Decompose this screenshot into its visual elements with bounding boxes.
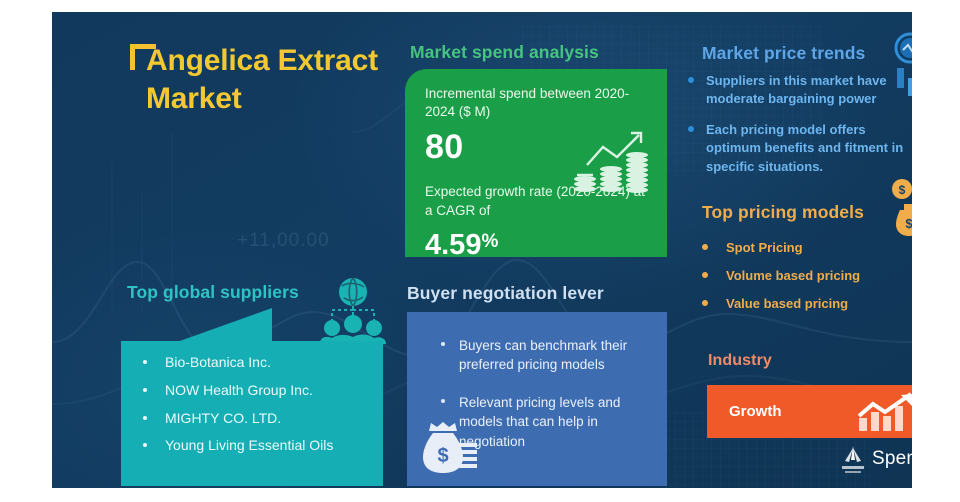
buyer-negotiation-heading: Buyer negotiation lever — [407, 283, 604, 304]
svg-text:$: $ — [905, 216, 912, 231]
list-item: Value based pricing — [702, 296, 912, 311]
corner-bracket-icon — [130, 44, 156, 70]
cagr-value: 4.59 — [425, 229, 481, 261]
list-item: Suppliers in this market have moderate b… — [688, 72, 912, 109]
bullet-dot-icon — [143, 388, 147, 392]
infographic-board: +11,00.00 Angelica Extract Market Market… — [52, 12, 912, 488]
list-item: Volume based pricing — [702, 268, 912, 283]
list-item: Each pricing model offers optimum benefi… — [688, 121, 912, 176]
spend-analysis-panel: Incremental spend between 2020-2024 ($ M… — [405, 69, 667, 257]
background-ghost-number: +11,00.00 — [237, 230, 330, 252]
list-item: Buyers can benchmark their preferred pri… — [431, 336, 651, 374]
list-item-label: Each pricing model offers optimum benefi… — [706, 122, 903, 174]
list-item-label: NOW Health Group Inc. — [165, 382, 313, 398]
list-item-label: Suppliers in this market have moderate b… — [706, 73, 887, 106]
list-item-label: Spot Pricing — [726, 240, 803, 255]
list-item-label: MIGHTY CO. LTD. — [165, 410, 281, 426]
bullet-dot-icon — [441, 342, 445, 346]
price-trends-heading: Market price trends — [702, 43, 865, 64]
bullet-dot-icon — [702, 244, 708, 250]
money-bag-declining-chart-icon: $ $ — [890, 178, 912, 245]
suppliers-panel: Bio-Botanica Inc. NOW Health Group Inc. … — [121, 341, 383, 486]
bullet-dot-icon — [143, 360, 147, 364]
spendedge-fan-mark-icon — [840, 444, 866, 474]
title-line-2: Market — [146, 80, 420, 118]
industry-heading: Industry — [708, 352, 772, 370]
bullet-dot-icon — [143, 443, 147, 447]
bullet-dot-icon — [441, 399, 445, 403]
globe-network-icon — [318, 276, 388, 351]
cagr-value-wrap: 4.59% — [425, 229, 649, 262]
pricing-models-list: Spot Pricing Volume based pricing Value … — [702, 240, 912, 324]
incremental-spend-label: Incremental spend between 2020-2024 ($ M… — [425, 85, 649, 121]
list-item-label: Bio-Botanica Inc. — [165, 354, 271, 370]
suppliers-heading: Top global suppliers — [127, 282, 299, 303]
title-line-1: Angelica Extract — [146, 42, 420, 80]
growth-arrow-chart-icon — [857, 392, 912, 437]
brand-name: SpendEdge — [872, 448, 912, 469]
brand-logo-text: SpendEdge™ — [872, 448, 912, 470]
list-item: NOW Health Group Inc. — [143, 382, 369, 399]
bullet-dot-icon — [702, 300, 708, 306]
list-item: Spot Pricing — [702, 240, 912, 255]
brand-logo: SpendEdge™ — [840, 444, 912, 474]
svg-text:$: $ — [437, 445, 448, 467]
list-item: MIGHTY CO. LTD. — [143, 410, 369, 427]
bullet-dot-icon — [688, 77, 694, 83]
list-item-label: Volume based pricing — [726, 268, 860, 283]
price-trends-list: Suppliers in this market have moderate b… — [688, 72, 912, 188]
list-item: Young Living Essential Oils — [143, 437, 369, 454]
industry-status-badge: Growth — [707, 385, 912, 438]
infographic-canvas: +11,00.00 Angelica Extract Market Market… — [0, 0, 960, 502]
coin-stacks-growth-icon — [573, 127, 651, 198]
bullet-dot-icon — [702, 272, 708, 278]
cagr-unit: % — [481, 231, 498, 252]
title-lines: Angelica Extract Market — [130, 42, 420, 119]
pricing-models-heading: Top pricing models — [702, 202, 864, 223]
list-item-label: Young Living Essential Oils — [165, 437, 333, 453]
spend-analysis-heading: Market spend analysis — [410, 42, 599, 63]
buyer-negotiation-panel: Buyers can benchmark their preferred pri… — [407, 312, 667, 486]
list-item-label: Value based pricing — [726, 296, 848, 311]
list-item-label: Buyers can benchmark their preferred pri… — [459, 338, 627, 372]
bullet-dot-icon — [688, 126, 694, 132]
money-bag-icon: $ — [415, 415, 477, 482]
svg-text:$: $ — [899, 183, 906, 197]
suppliers-callout-pointer — [177, 308, 272, 342]
bullet-dot-icon — [143, 416, 147, 420]
list-item: Bio-Botanica Inc. — [143, 354, 369, 371]
list-item-label: Relevant pricing levels and models that … — [459, 395, 620, 448]
page-title: Angelica Extract Market — [130, 42, 420, 119]
status-badge-label: Growth — [729, 403, 782, 420]
